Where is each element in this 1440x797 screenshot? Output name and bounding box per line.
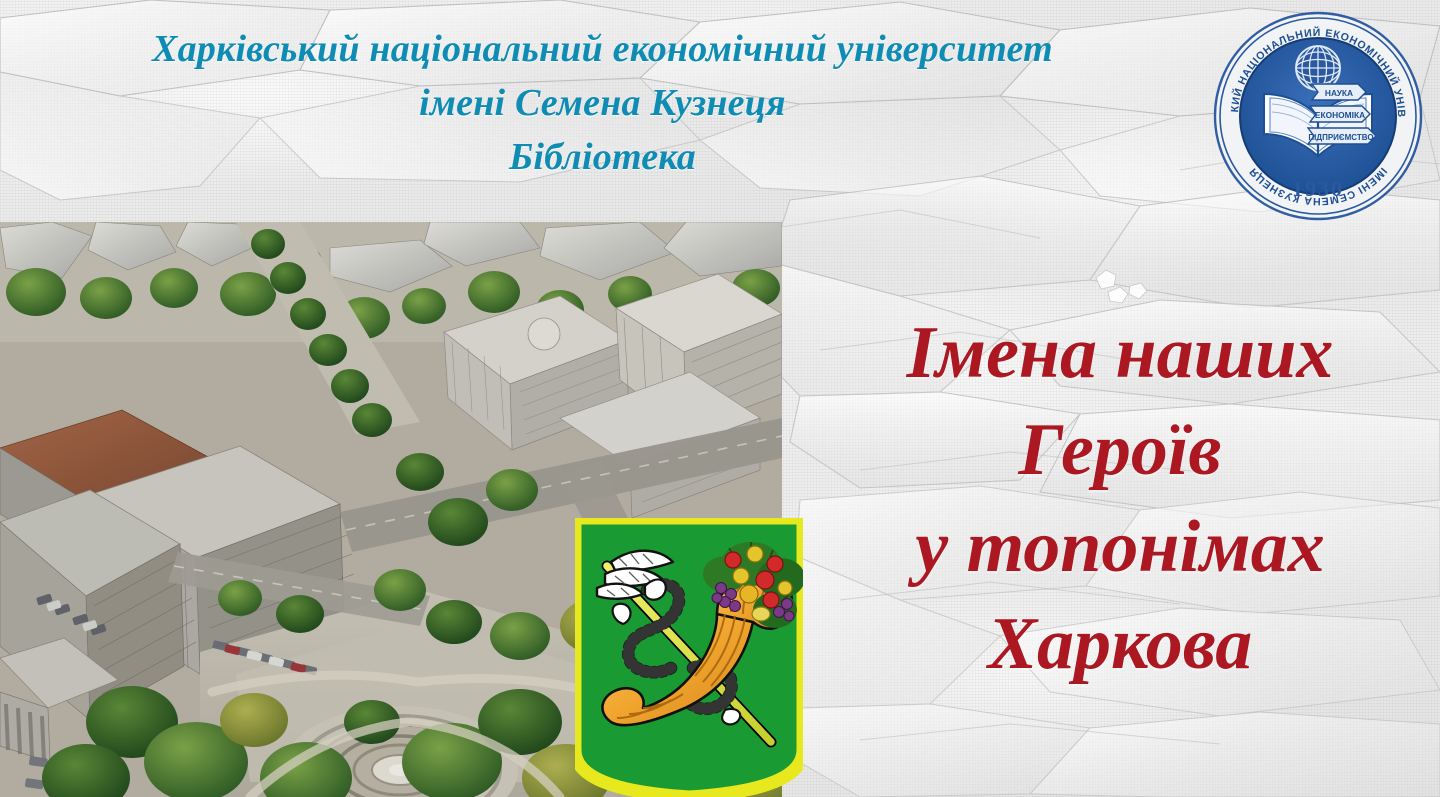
svg-text:НАУКА: НАУКА (1325, 88, 1353, 98)
logo-banner-ekonomika: ЕКОНОМІКА (1310, 106, 1370, 122)
logo-year: 1930 (1292, 176, 1344, 201)
svg-text:ЕКОНОМІКА: ЕКОНОМІКА (1315, 110, 1365, 120)
title-line-4: Харкова (806, 596, 1434, 693)
title-line-2: Героїв (806, 402, 1434, 499)
poster-canvas: Харківський національний економічний уні… (0, 0, 1440, 797)
institution-header: Харківський національний економічний уні… (0, 22, 1205, 184)
poster-title: Імена наших Героїв у топонімах Харкова (806, 305, 1434, 693)
university-logo: ХАРКІВСЬКИЙ НАЦІОНАЛЬНИЙ ЕКОНОМІЧНИЙ УНІ… (1208, 6, 1428, 226)
svg-text:ПІДПРИЄМСТВО: ПІДПРИЄМСТВО (1308, 133, 1373, 142)
title-line-1: Імена наших (806, 305, 1434, 402)
header-line-named-after: імені Семена Кузнеця (0, 76, 1205, 130)
header-line-library: Бібліотека (0, 130, 1205, 184)
header-line-university: Харківський національний економічний уні… (0, 22, 1205, 76)
logo-banner-pidpryiemstvo: ПІДПРИЄМСТВО (1308, 128, 1376, 144)
kharkiv-coat-of-arms (575, 518, 803, 797)
logo-banner-nauka: НАУКА (1312, 84, 1366, 100)
title-line-3: у топонімах (806, 499, 1434, 596)
